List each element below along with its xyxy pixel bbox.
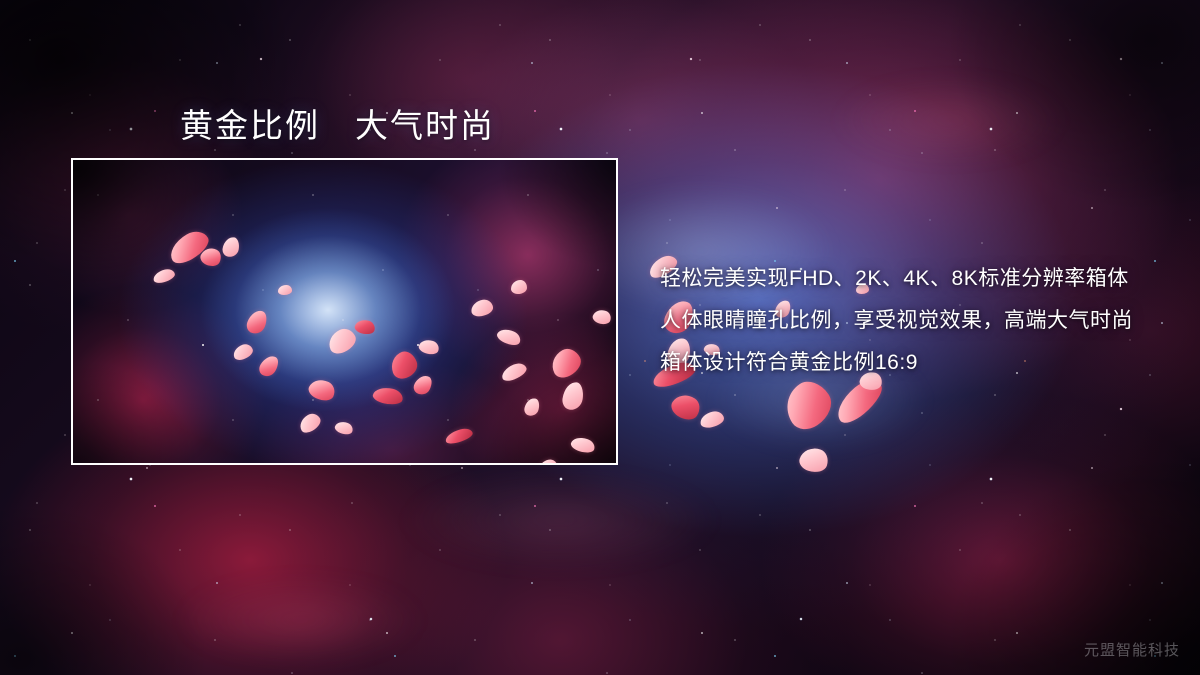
petal: [511, 280, 527, 294]
body-line: 箱体设计符合黄金比例16:9: [660, 342, 1160, 384]
panel-vignette: [73, 160, 616, 463]
petal: [278, 285, 292, 295]
body-line: 人体眼睛瞳孔比例，享受视觉效果，高端大气时尚: [660, 300, 1160, 342]
framed-image-panel: [71, 158, 618, 465]
slide-canvas: 黄金比例 大气时尚 轻松完美实现FHD、2K、4K、8K标准分辨率箱体 人体眼睛…: [0, 0, 1200, 675]
watermark: 元盟智能科技: [1084, 639, 1180, 660]
body-line: 轻松完美实现FHD、2K、4K、8K标准分辨率箱体: [660, 258, 1160, 300]
body-text-block: 轻松完美实现FHD、2K、4K、8K标准分辨率箱体 人体眼睛瞳孔比例，享受视觉效…: [660, 258, 1160, 384]
page-title: 黄金比例 大气时尚: [180, 99, 495, 147]
